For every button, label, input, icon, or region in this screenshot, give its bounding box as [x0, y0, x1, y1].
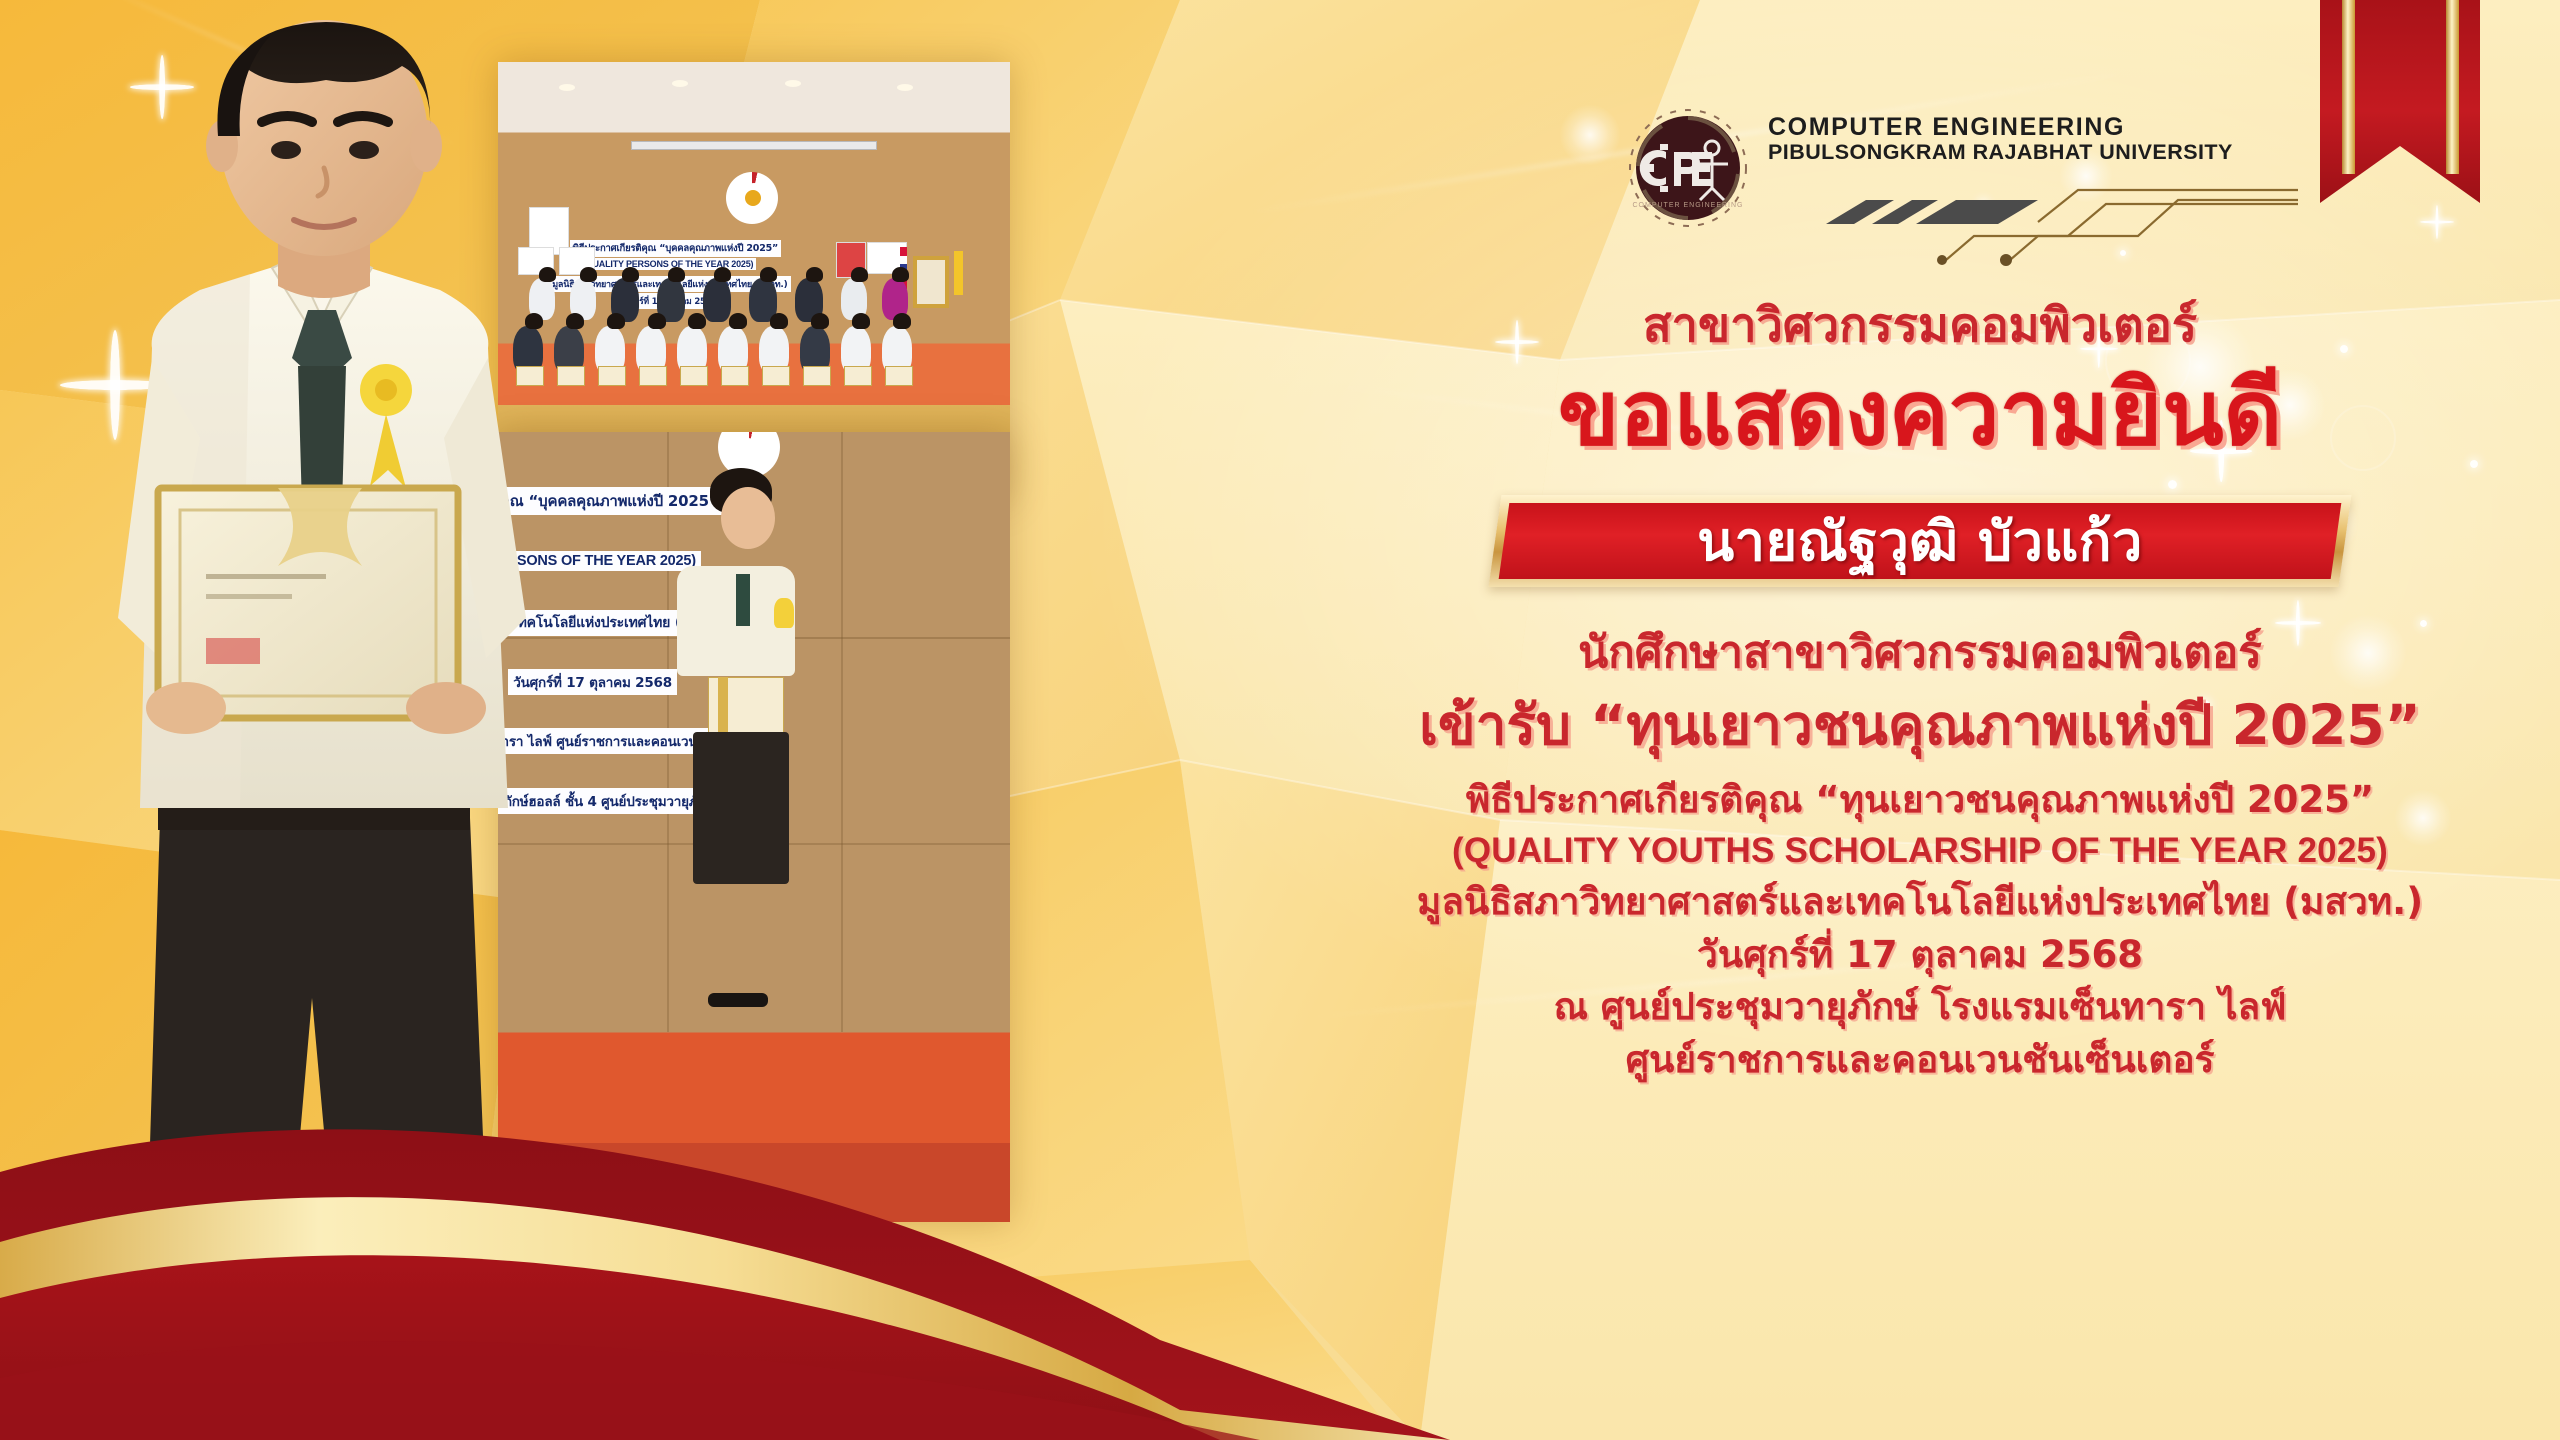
detail-line: ณ ศูนย์ประชุมวายุภักษ์ โรงแรมเซ็นทารา ไล…	[1300, 981, 2540, 1034]
stage-banner-line: พิธีประกาศเกียรติคุณ “บุคคลคุณภาพแห่งปี …	[570, 240, 781, 257]
detail-line: (QUALITY YOUTHS SCHOLARSHIP OF THE YEAR …	[1300, 826, 2540, 876]
detail-line: มูลนิธิสภาวิทยาศาสตร์และเทคโนโลยีแห่งประ…	[1300, 876, 2540, 929]
detail-line: พิธีประกาศเกียรติคุณ “ทุนเยาวชนคุณภาพแห่…	[1300, 774, 2540, 827]
recipient-name: นายณัฐวุฒิ บัวแก้ว	[1495, 495, 2345, 587]
certificate	[885, 366, 913, 386]
certificate	[680, 366, 708, 386]
certificate	[639, 366, 667, 386]
certificate	[158, 488, 458, 718]
yellow-ribbon-icon	[774, 598, 794, 628]
certificate	[844, 366, 872, 386]
logo-line-1: COMPUTER ENGINEERING	[1768, 114, 2233, 140]
circuit-decoration-icon	[1738, 160, 2298, 270]
certificate	[803, 366, 831, 386]
student-head	[721, 487, 775, 549]
certificate-ribbon-icon	[718, 677, 728, 733]
badge-subtext: COMPUTER ENGINEERING	[1632, 202, 1743, 209]
name-plate: นายณัฐวุฒิ บัวแก้ว	[1495, 495, 2345, 587]
event-details: พิธีประกาศเกียรติคุณ “ทุนเยาวชนคุณภาพแห่…	[1300, 774, 2540, 1086]
cpe-logo-block: COMPUTER ENGINEERING COMPUTER ENGINEERIN…	[1628, 100, 2288, 245]
logo-text: COMPUTER ENGINEERING PIBULSONGKRAM RAJAB…	[1768, 114, 2233, 165]
student-shoes	[708, 993, 768, 1007]
detail-line: ศูนย์ราชการและคอนเวนชันเซ็นเตอร์	[1300, 1034, 2540, 1087]
certificate	[721, 366, 749, 386]
award-line: เข้ารับ “ทุนเยาวชนคุณภาพแห่งปี 2025”	[1300, 692, 2540, 758]
text-column: สาขาวิศวกรรมคอมพิวเตอร์ ขอแสดงความยินดี …	[1300, 300, 2540, 1086]
congratulations-heading: ขอแสดงความยินดี	[1300, 367, 2540, 462]
student-tie	[736, 574, 750, 626]
detail-line: วันศุกร์ที่ 17 ตุลาคม 2568	[1300, 929, 2540, 982]
student-trousers	[693, 732, 789, 884]
department-line: สาขาวิศวกรรมคอมพิวเตอร์	[1300, 300, 2540, 353]
certificate	[762, 366, 790, 386]
congratulations-poster: พิธีประกาศเกียรติคุณ “บุคคลคุณภาพแห่งปี …	[0, 0, 2560, 1440]
certificate	[598, 366, 626, 386]
student-line: นักศึกษาสาขาวิศวกรรมคอมพิวเตอร์	[1300, 627, 2540, 680]
cpe-badge-icon: COMPUTER ENGINEERING	[1628, 108, 1748, 228]
student-cutout-portrait	[40, 18, 600, 1308]
